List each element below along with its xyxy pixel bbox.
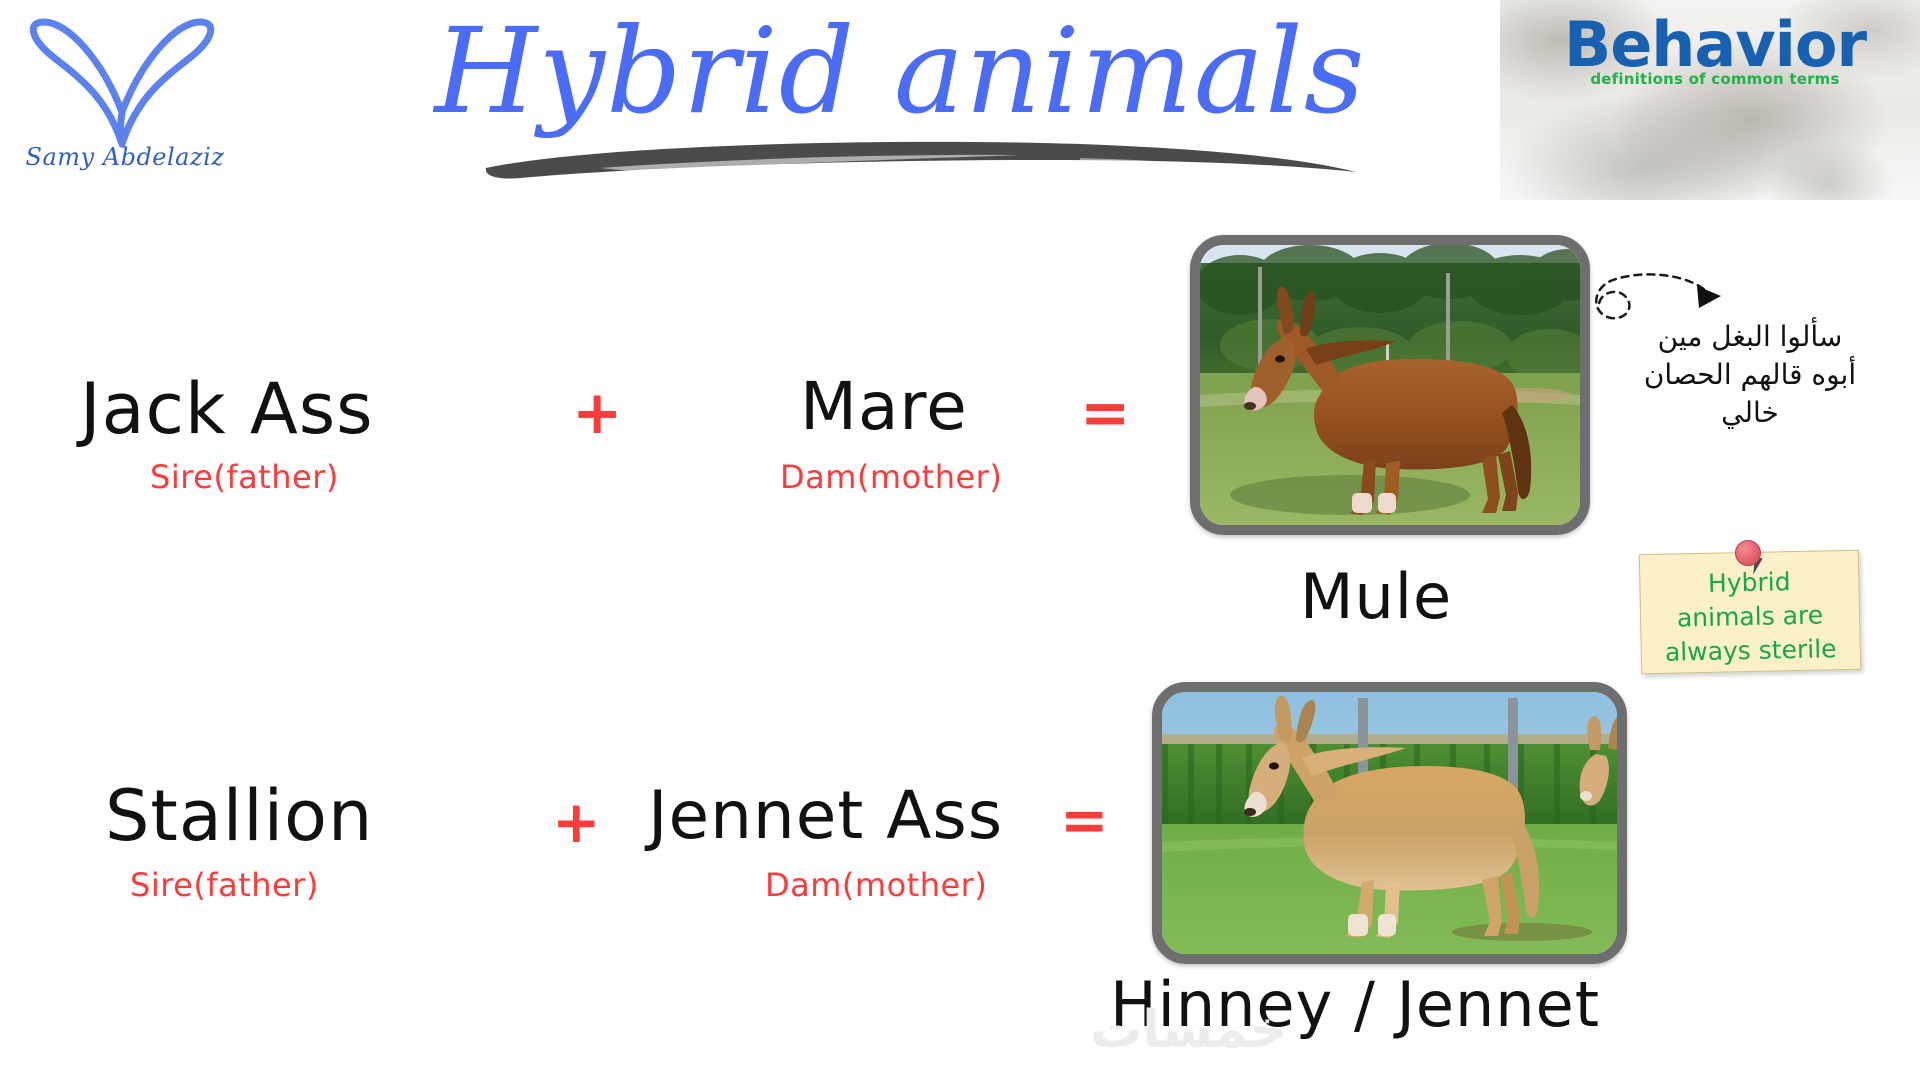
author-name: Samy Abdelaziz [20,143,230,171]
row1-parent1-label: Jack Ass [80,368,374,450]
row1-plus-operator: + [572,378,622,448]
watermark-text: خمسات [1090,1000,1287,1060]
arabic-line-3: خالي [1600,394,1900,432]
sticky-line-3: always sterile [1640,632,1861,671]
brand-name: Behavior [1520,14,1910,76]
page-title: Hybrid animals [430,5,1370,137]
sticky-note-text: Hybrid animals are always sterile [1639,564,1861,671]
pushpin-icon [1735,540,1761,566]
row2-parent2-label: Jennet Ass [648,777,1003,854]
row1-parent2-role: Dam(mother) [780,458,1002,496]
mule-photo [1190,235,1590,535]
row1-offspring-label: Mule [1300,560,1452,633]
sticky-line-2: animals are [1640,598,1861,637]
row2-parent2-role: Dam(mother) [765,866,987,904]
row1-equals-operator: = [1080,378,1130,448]
brand-logo: Behavior definitions of common terms [1520,14,1910,88]
row2-parent1-role: Sire(father) [130,866,319,904]
arabic-line-1: سألوا البغل مين [1600,318,1900,356]
row2-parent1-label: Stallion [105,775,373,857]
hinney-photo [1152,682,1627,964]
row1-parent1-role: Sire(father) [150,458,339,496]
tulip-v-logo-icon [10,8,240,158]
row2-equals-operator: = [1060,786,1109,854]
arabic-line-2: أبوه قالهم الحصان [1600,356,1900,394]
title-brush-underline [480,138,1360,184]
row2-plus-operator: + [552,788,601,856]
sticky-line-1: Hybrid [1639,564,1860,603]
author-logo: Samy Abdelaziz [10,8,240,188]
row1-parent2-label: Mare [800,368,968,445]
arabic-joke-caption: سألوا البغل مين أبوه قالهم الحصان خالي [1600,318,1900,432]
